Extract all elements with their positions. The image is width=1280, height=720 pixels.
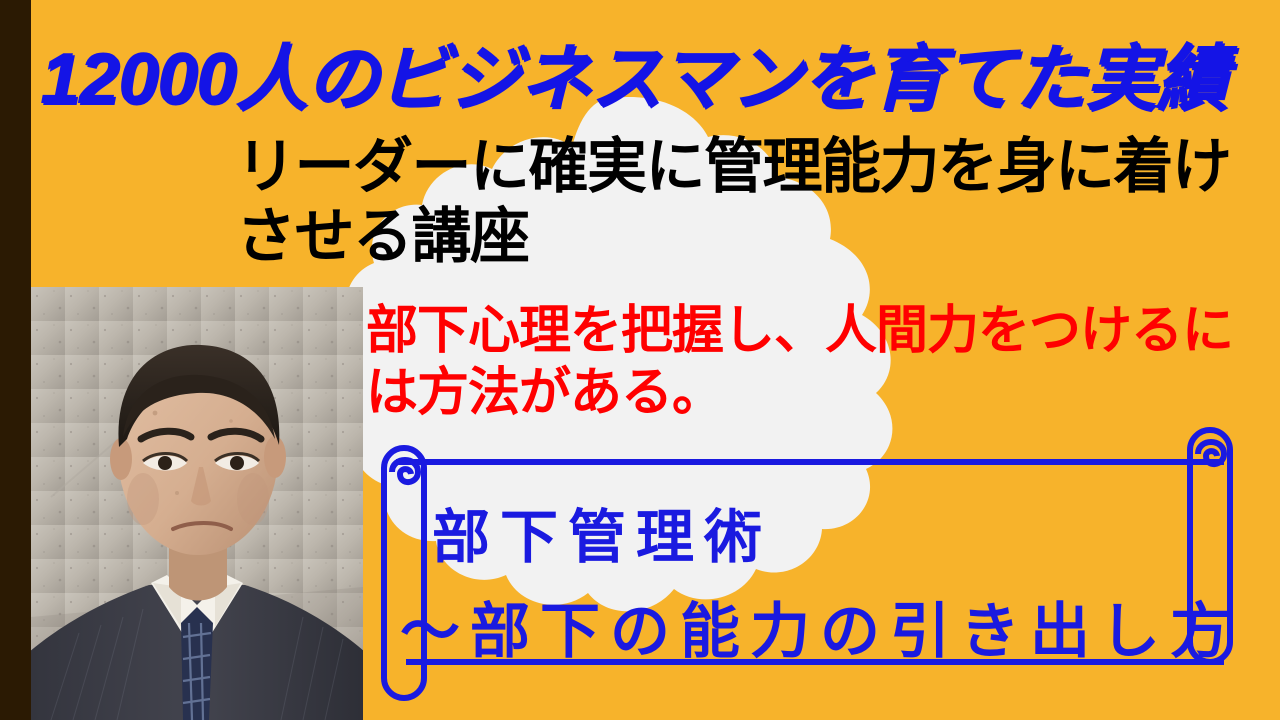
slide-canvas: 12000人のビジネスマンを育てた実績 リーダーに確実に管理能力を身に着けさせる… [0,0,1280,720]
scroll-subtitle: 〜部下の能力の引き出し方 [400,583,1240,670]
left-edge-bar [0,0,31,720]
scroll-title: 部下管理術 [432,490,772,574]
headline-secondary: リーダーに確実に管理能力を身に着けさせる講座 [236,132,1246,271]
headline-tertiary-red: 部下心理を把握し、人間力をつけるには方法がある。 [366,300,1266,425]
headline-primary: 12000人のビジネスマンを育てた実績 [40,43,1227,115]
portrait-photo [31,287,363,720]
